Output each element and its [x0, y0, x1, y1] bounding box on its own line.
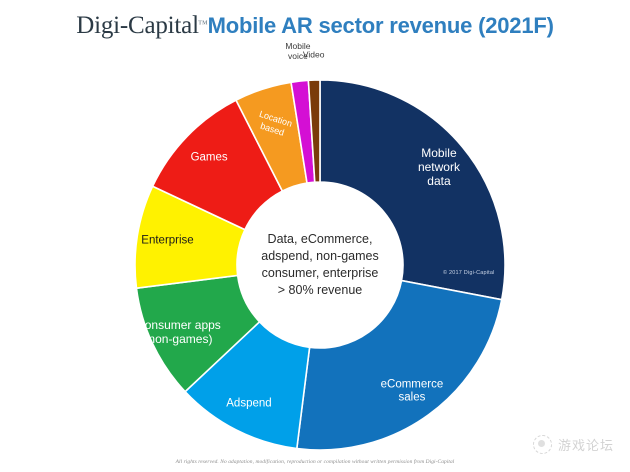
forum-watermark: 游戏论坛 [533, 435, 614, 454]
copyright-watermark: © 2017 Digi-Capital [443, 270, 495, 276]
center-annotation: Data, eCommerce, adspend, non-games cons… [230, 231, 410, 299]
donut-chart: Mobile network dataeCommerce salesAdspen… [133, 78, 507, 452]
slice-label-video: Video [303, 51, 325, 61]
legal-footer: All rights reserved. No adaptation, modi… [0, 459, 630, 465]
circle-badge-icon [533, 435, 552, 454]
slide-canvas: Digi-Capital™Mobile AR sector revenue (2… [0, 0, 630, 472]
pie-slice[interactable] [297, 281, 502, 450]
chart-title: Mobile AR sector revenue (2021F) [208, 13, 554, 38]
trademark-symbol: ™ [198, 19, 208, 30]
forum-watermark-text: 游戏论坛 [558, 435, 614, 454]
page-title: Digi-Capital™Mobile AR sector revenue (2… [0, 12, 630, 40]
brand-name: Digi-Capital [76, 12, 199, 39]
